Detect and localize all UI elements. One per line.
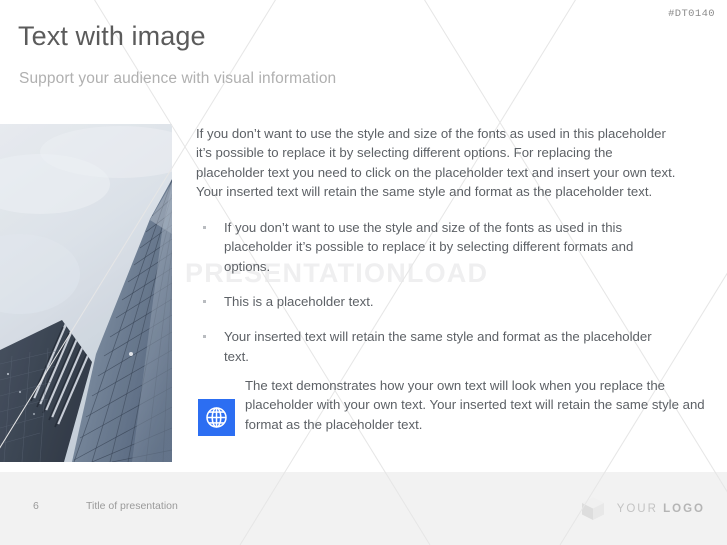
footer-presentation-title: Title of presentation (86, 500, 178, 512)
slide-footer: 6 Title of presentation YOUR LOGO (0, 472, 727, 545)
globe-icon-glyph (204, 405, 229, 430)
icon-paragraph: The text demonstrates how your own text … (245, 376, 710, 434)
bullet-list: If you don’t want to use the style and s… (196, 218, 706, 366)
page-number: 6 (33, 500, 39, 512)
globe-icon (198, 399, 235, 436)
presentation-slide: PRESENTATIONLOAD #DT0140 Text with image… (0, 0, 727, 545)
bullet-dot-icon (203, 226, 206, 229)
intro-paragraph: If you don’t want to use the style and s… (196, 124, 682, 201)
slide-image (0, 124, 172, 462)
logo-word-bold: LOGO (663, 503, 705, 515)
list-item: If you don’t want to use the style and s… (196, 218, 676, 276)
page-title: Text with image (18, 22, 206, 52)
icon-paragraph-row: The text demonstrates how your own text … (196, 376, 706, 434)
list-item-label: Your inserted text will retain the same … (224, 329, 652, 363)
list-item: Your inserted text will retain the same … (196, 327, 664, 366)
skyscraper-photo (0, 124, 172, 462)
bullet-dot-icon (203, 300, 206, 303)
cube-logo-icon (578, 494, 608, 523)
list-item-label: If you don’t want to use the style and s… (224, 220, 633, 274)
page-subtitle: Support your audience with visual inform… (19, 70, 336, 88)
bullet-dot-icon (203, 335, 206, 338)
list-item-label: This is a placeholder text. (224, 294, 374, 309)
logo-text: YOUR LOGO (617, 503, 705, 515)
content-area: If you don’t want to use the style and s… (196, 124, 706, 447)
list-item: This is a placeholder text. (196, 292, 694, 311)
slide-id-tag: #DT0140 (668, 8, 715, 20)
logo: YOUR LOGO (578, 494, 705, 523)
logo-word-light: YOUR (617, 503, 658, 515)
